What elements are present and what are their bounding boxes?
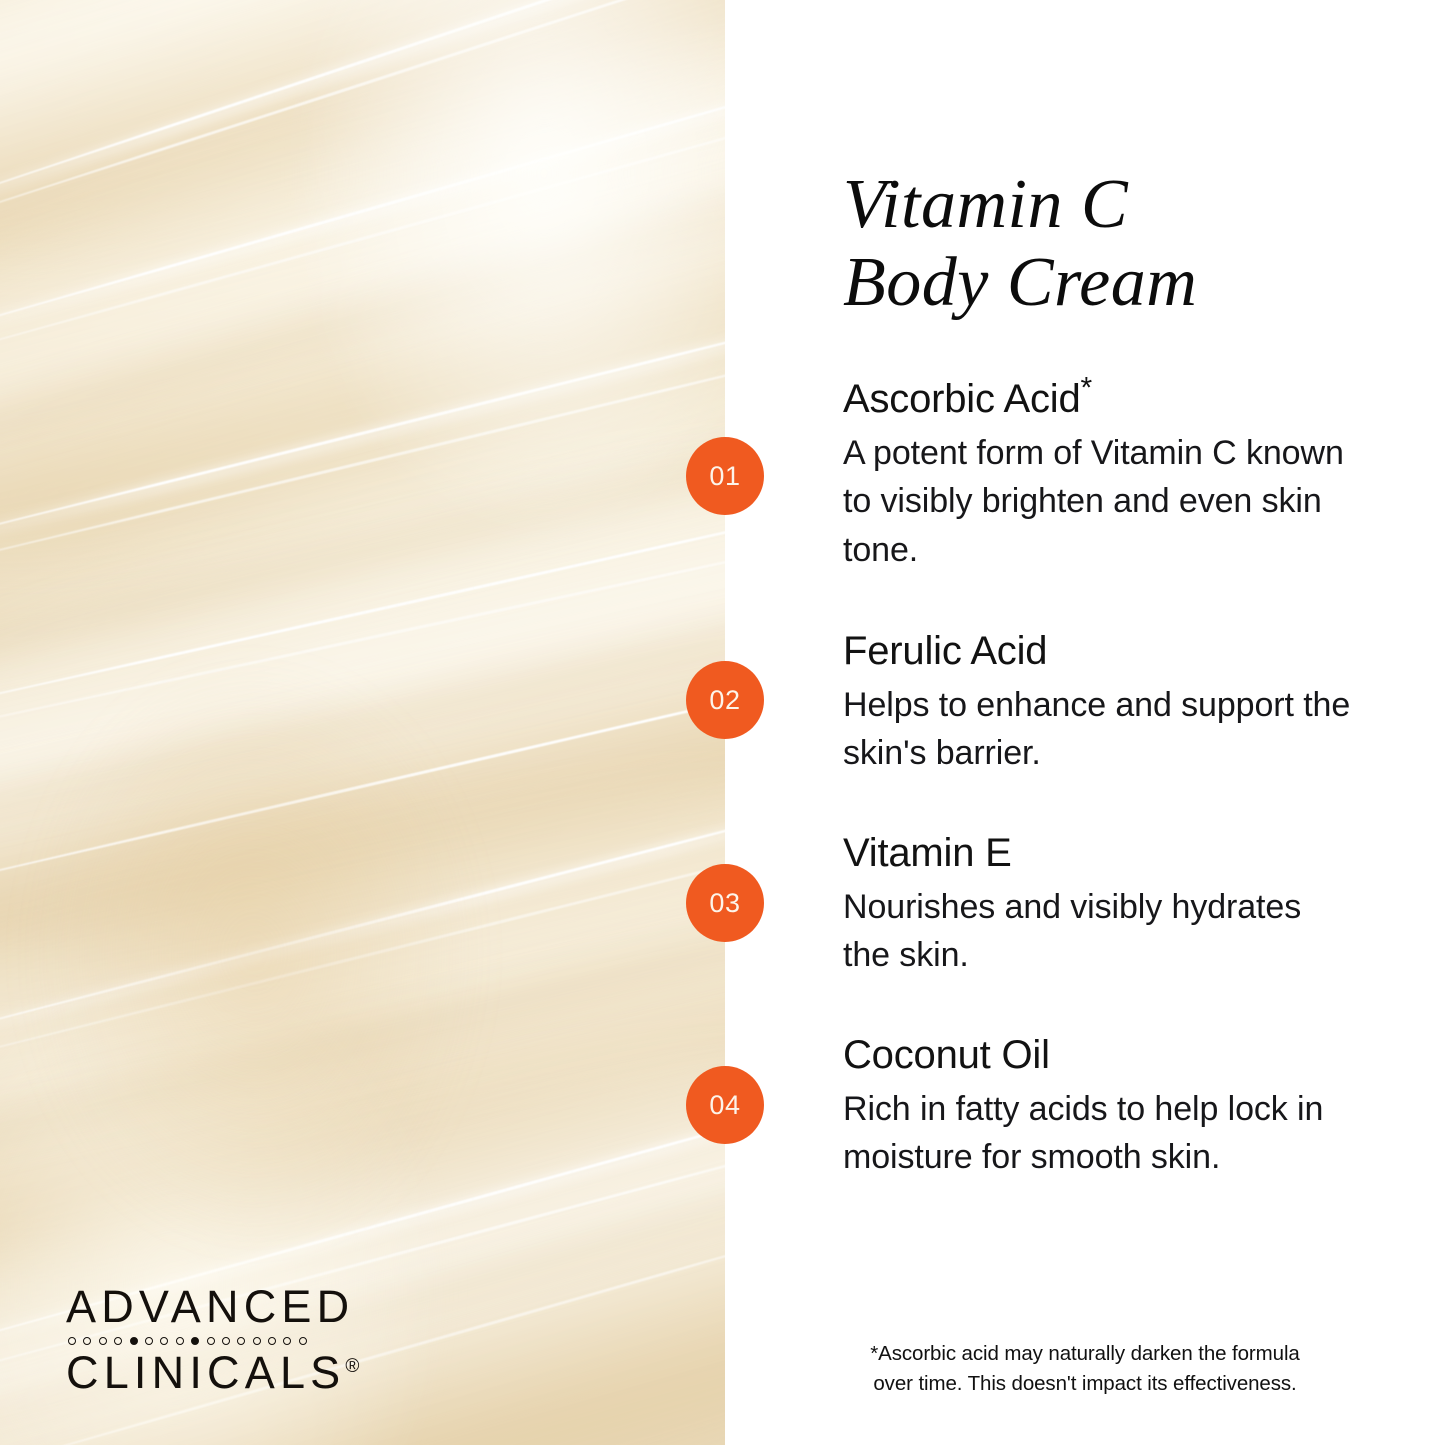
ingredient-description: Rich in fatty acids to help lock in mois…	[843, 1085, 1353, 1182]
ingredient-name-text: Ferulic Acid	[843, 629, 1047, 673]
ingredient-name: Coconut Oil	[843, 1032, 1353, 1079]
step-badge-02: 02	[686, 661, 764, 739]
brand-dot-filled	[191, 1337, 199, 1345]
brand-word-advanced: ADVANCED	[66, 1284, 359, 1331]
brand-dot	[145, 1337, 153, 1345]
ingredient-item: Coconut Oil Rich in fatty acids to help …	[843, 1032, 1353, 1182]
brand-dot	[160, 1337, 168, 1345]
footnote-line-2: over time. This doesn't impact its effec…	[837, 1369, 1333, 1400]
brand-dot	[283, 1337, 291, 1345]
brand-dot	[176, 1337, 184, 1345]
title-line-2: Body Cream	[843, 244, 1403, 322]
content-pane: Vitamin C Body Cream Ascorbic Acid* A po…	[725, 0, 1445, 1445]
brand-dot	[114, 1337, 122, 1345]
brand-dot	[253, 1337, 261, 1345]
brand-divider-dots	[68, 1337, 359, 1345]
brand-word-clinicals: CLINICALS®	[66, 1350, 359, 1397]
brand-word-clinicals-text: CLINICALS	[66, 1347, 345, 1398]
product-infographic: ADVANCED CLINICALS®	[0, 0, 1445, 1445]
ingredient-name: Ferulic Acid	[843, 628, 1353, 675]
footnote: *Ascorbic acid may naturally darken the …	[725, 1339, 1445, 1401]
title-line-1: Vitamin C	[843, 166, 1403, 244]
ingredient-description: Helps to enhance and support the skin's …	[843, 681, 1353, 778]
brand-dot	[83, 1337, 91, 1345]
brand-dot-filled	[130, 1337, 138, 1345]
footnote-line-1: *Ascorbic acid may naturally darken the …	[837, 1339, 1333, 1370]
step-badge-01: 01	[686, 437, 764, 515]
ingredient-item: Ascorbic Acid* A potent form of Vitamin …	[843, 376, 1353, 574]
registered-mark-icon: ®	[345, 1356, 359, 1377]
brand-dot	[99, 1337, 107, 1345]
ingredient-name-text: Coconut Oil	[843, 1033, 1050, 1077]
ingredient-item: Ferulic Acid Helps to enhance and suppor…	[843, 628, 1353, 778]
cream-texture-photo: ADVANCED CLINICALS®	[0, 0, 725, 1445]
page-title: Vitamin C Body Cream	[843, 166, 1403, 323]
brand-dot	[207, 1337, 215, 1345]
cream-light-bloom	[290, 0, 725, 549]
ingredient-name-text: Ascorbic Acid	[843, 377, 1081, 421]
brand-dot	[237, 1337, 245, 1345]
step-badge-04: 04	[686, 1066, 764, 1144]
ingredient-name: Ascorbic Acid*	[843, 376, 1353, 423]
ingredient-item: Vitamin E Nourishes and visibly hydrates…	[843, 830, 1353, 980]
brand-dot	[299, 1337, 307, 1345]
ingredient-description: Nourishes and visibly hydrates the skin.	[843, 883, 1353, 980]
step-badge-03: 03	[686, 864, 764, 942]
brand-dot	[222, 1337, 230, 1345]
brand-logo: ADVANCED CLINICALS®	[66, 1284, 359, 1397]
brand-dot	[68, 1337, 76, 1345]
ingredient-name: Vitamin E	[843, 830, 1353, 877]
brand-dot	[268, 1337, 276, 1345]
ingredient-description: A potent form of Vitamin C known to visi…	[843, 429, 1353, 574]
ingredient-name-text: Vitamin E	[843, 831, 1012, 875]
cream-warm-bloom	[29, 665, 479, 1243]
asterisk-icon: *	[1081, 372, 1092, 405]
